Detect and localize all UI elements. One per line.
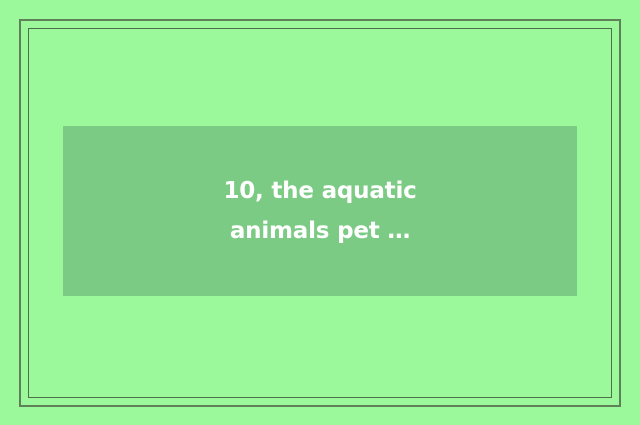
quote-panel: 10, the aquatic animals pet … — [63, 126, 577, 296]
quote-card-canvas: 10, the aquatic animals pet … — [0, 0, 640, 425]
quote-text: 10, the aquatic animals pet … — [196, 171, 444, 251]
